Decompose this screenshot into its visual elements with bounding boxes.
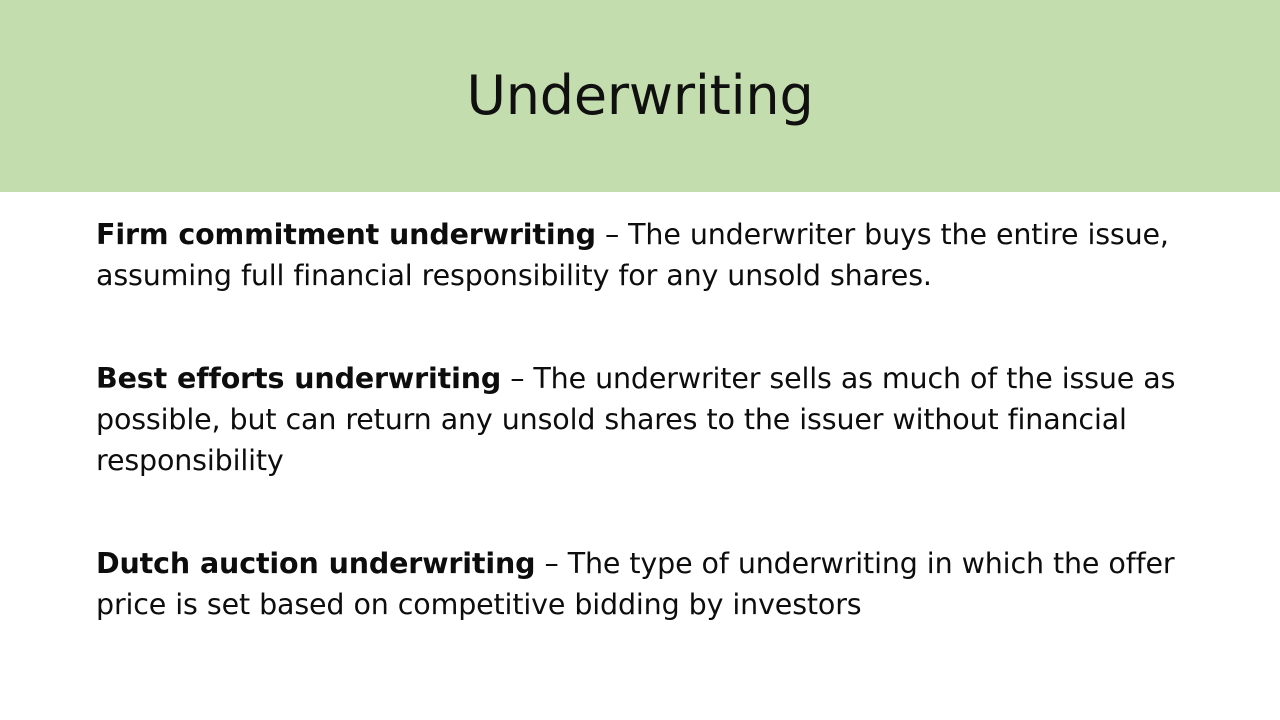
bullet-paragraph-dutch-auction: Dutch auction underwriting – The type of… bbox=[96, 543, 1182, 625]
term-separator: – bbox=[501, 362, 533, 395]
term-separator: – bbox=[596, 218, 628, 251]
bullet-paragraph-firm-commitment: Firm commitment underwriting – The under… bbox=[96, 214, 1182, 296]
term-best-efforts-underwriting: Best efforts underwriting bbox=[96, 362, 501, 395]
term-dutch-auction-underwriting: Dutch auction underwriting bbox=[96, 547, 535, 580]
term-separator: – bbox=[535, 547, 567, 580]
title-banner: Underwriting bbox=[0, 0, 1280, 192]
term-firm-commitment-underwriting: Firm commitment underwriting bbox=[96, 218, 596, 251]
presentation-slide: Underwriting Firm commitment underwritin… bbox=[0, 0, 1280, 720]
slide-title: Underwriting bbox=[426, 68, 853, 125]
slide-body: Firm commitment underwriting – The under… bbox=[96, 214, 1182, 625]
bullet-paragraph-best-efforts: Best efforts underwriting – The underwri… bbox=[96, 358, 1182, 481]
